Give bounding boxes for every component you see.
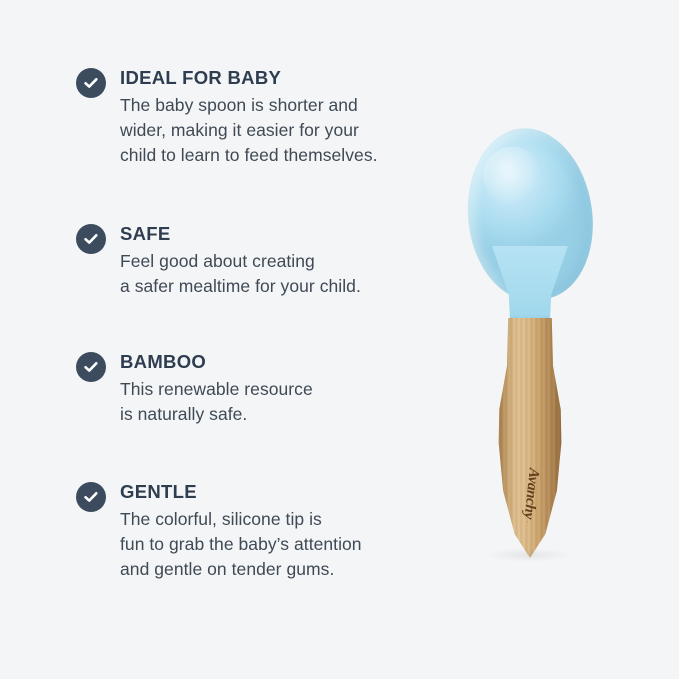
feature-description: The baby spoon is shorter and wider, mak… <box>120 93 436 168</box>
feature-description-line: is naturally safe. <box>120 402 436 427</box>
feature-description-line: This renewable resource <box>120 377 436 402</box>
check-circle-icon <box>76 68 106 98</box>
feature-description-line: The colorful, silicone tip is <box>120 507 436 532</box>
feature-description-line: fun to grab the baby’s attention <box>120 532 436 557</box>
check-circle-icon <box>76 224 106 254</box>
feature-description-line: child to learn to feed themselves. <box>120 143 436 168</box>
feature-description: Feel good about creating a safer mealtim… <box>120 249 436 299</box>
feature-body: BAMBOO This renewable resource is natura… <box>120 350 436 427</box>
check-circle-icon <box>76 352 106 382</box>
feature-title: SAFE <box>120 222 436 246</box>
feature-body: IDEAL FOR BABY The baby spoon is shorter… <box>120 66 436 168</box>
feature-description-line: a safer mealtime for your child. <box>120 274 436 299</box>
brand-name: Avanchy <box>520 467 542 519</box>
feature-item-bamboo: BAMBOO This renewable resource is natura… <box>76 350 436 427</box>
feature-title: IDEAL FOR BABY <box>120 66 436 90</box>
feature-body: SAFE Feel good about creating a safer me… <box>120 222 436 299</box>
feature-description: This renewable resource is naturally saf… <box>120 377 436 427</box>
feature-body: GENTLE The colorful, silicone tip is fun… <box>120 480 436 582</box>
feature-description-line: wider, making it easier for your <box>120 118 436 143</box>
product-shadow <box>486 548 572 562</box>
feature-description-line: The baby spoon is shorter and <box>120 93 436 118</box>
feature-item-ideal-for-baby: IDEAL FOR BABY The baby spoon is shorter… <box>76 66 436 168</box>
product-feature-infographic: IDEAL FOR BABY The baby spoon is shorter… <box>0 0 679 679</box>
feature-description: The colorful, silicone tip is fun to gra… <box>120 507 436 582</box>
feature-description-line: and gentle on tender gums. <box>120 557 436 582</box>
feature-item-safe: SAFE Feel good about creating a safer me… <box>76 222 436 299</box>
feature-item-gentle: GENTLE The colorful, silicone tip is fun… <box>76 480 436 582</box>
feature-list: IDEAL FOR BABY The baby spoon is shorter… <box>0 0 440 679</box>
brand-logo: Avanchy <box>485 464 576 527</box>
check-circle-icon <box>76 482 106 512</box>
feature-description-line: Feel good about creating <box>120 249 436 274</box>
product-image-baby-spoon: Avanchy <box>430 0 679 679</box>
feature-title: BAMBOO <box>120 350 436 374</box>
feature-title: GENTLE <box>120 480 436 504</box>
